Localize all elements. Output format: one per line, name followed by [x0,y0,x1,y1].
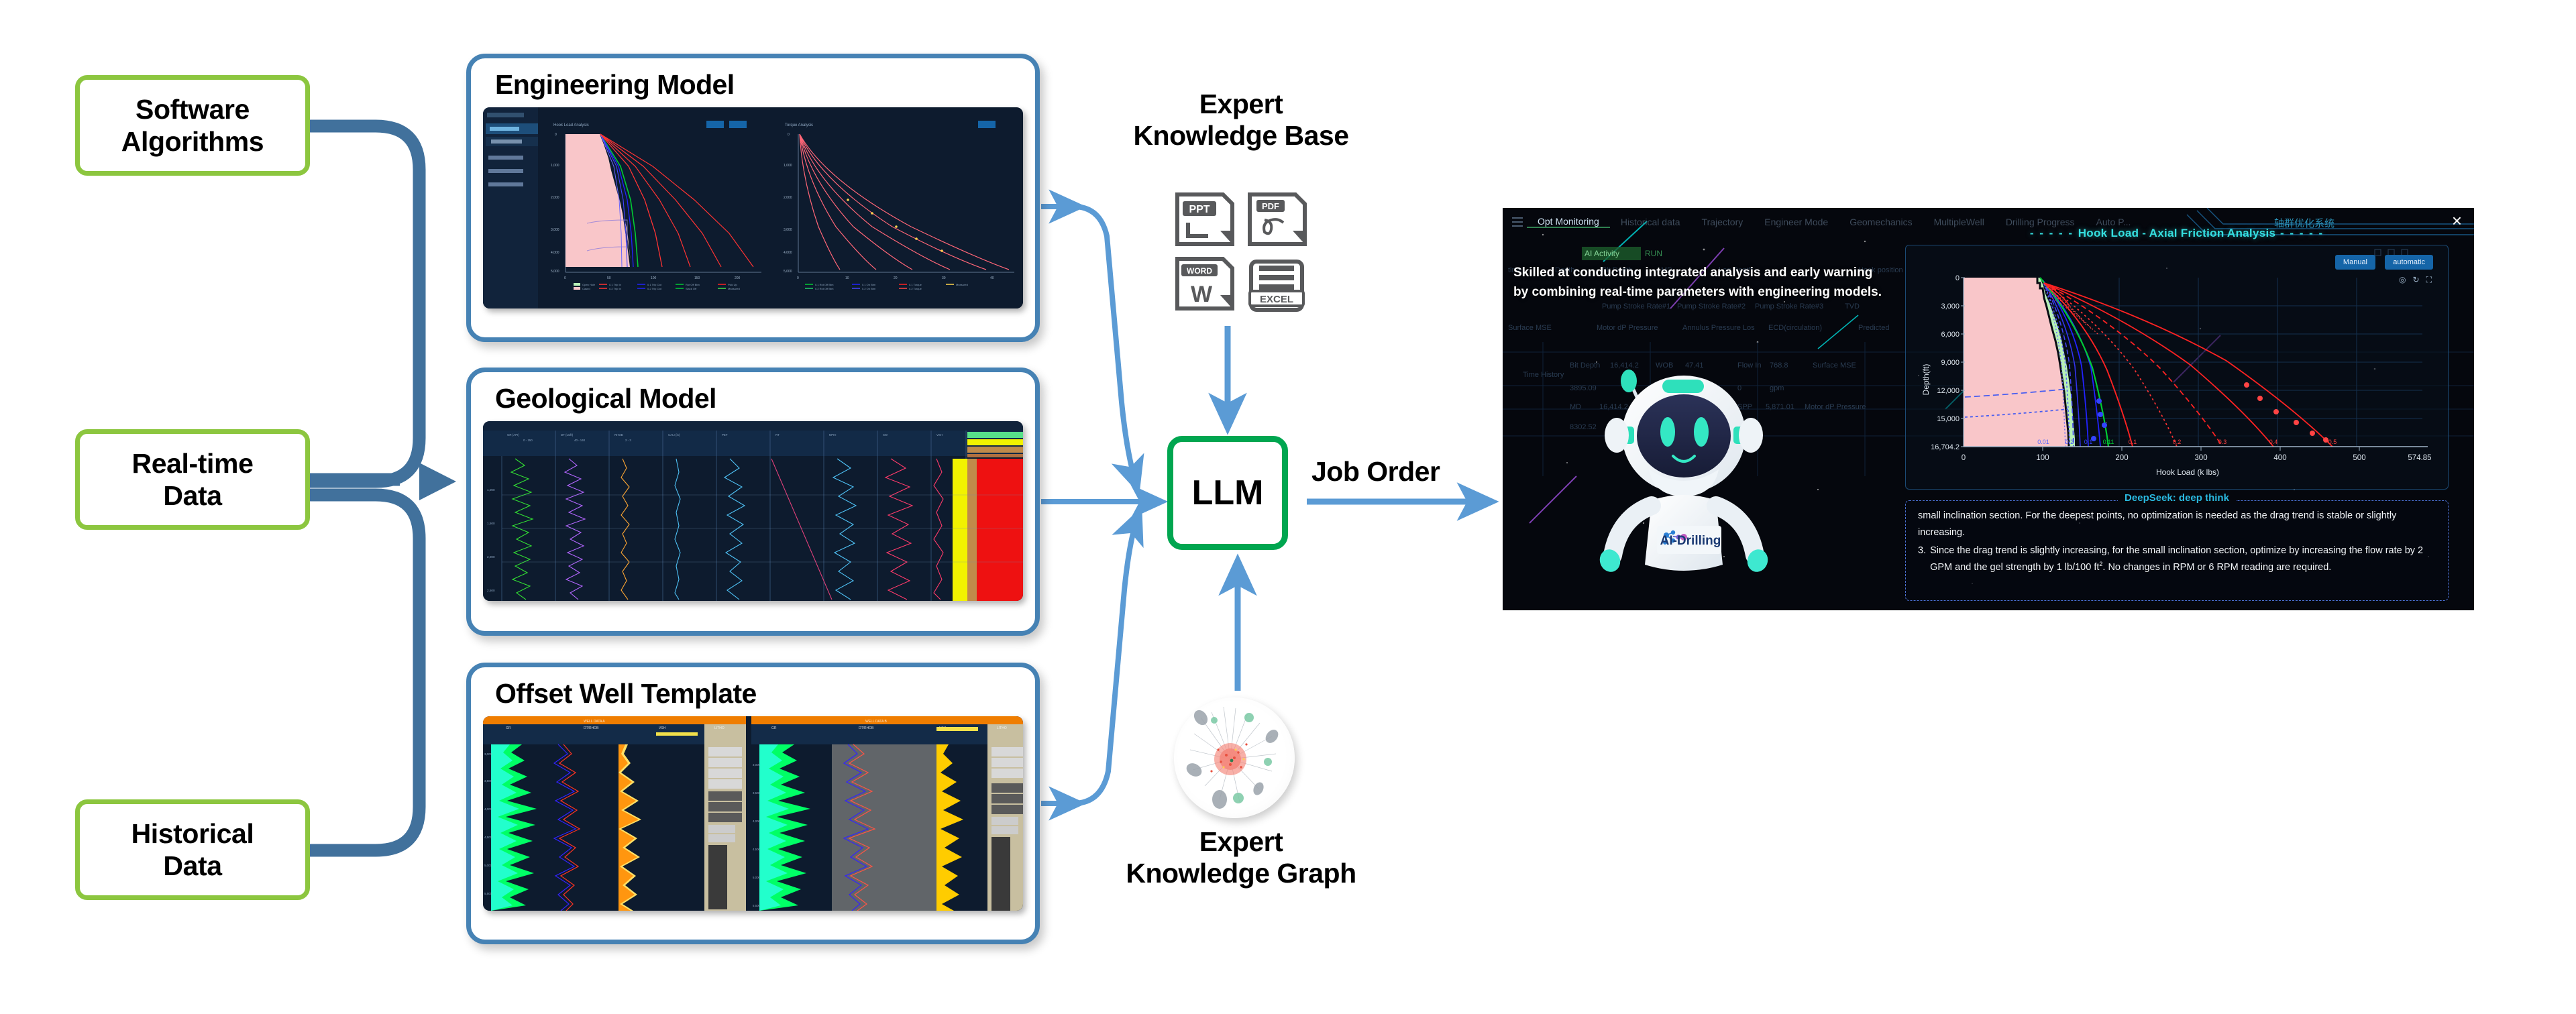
svg-text:0.1: 0.1 [2084,439,2093,445]
svg-text:1,500: 1,500 [487,522,495,525]
manual-mode-button[interactable]: Manual [2335,255,2375,270]
svg-text:0.2 Trip In: 0.2 Trip In [609,287,621,290]
svg-text:GR: GR [771,726,777,730]
svg-text:300: 300 [2194,454,2207,462]
input-box-software-algorithms[interactable]: Software Algorithms [75,75,310,176]
svg-text:574.85: 574.85 [2408,454,2431,462]
svg-text:10: 10 [845,276,849,280]
input-gather-bracket [310,126,456,850]
model-title-offset-well: Offset Well Template [495,678,1023,710]
chart-title-dashes-left: - - - - - [2030,227,2078,239]
llm-label: LLM [1192,473,1264,513]
nav-tab-opt-monitoring[interactable]: Opt Monitoring [1527,216,1610,228]
svg-text:0.2 Rot Off Btm: 0.2 Rot Off Btm [815,287,834,290]
chart-title-dashes-right: - - - - - [2275,227,2324,239]
svg-text:400: 400 [2273,454,2286,462]
svg-text:0: 0 [1962,454,1966,462]
svg-text:0.01: 0.01 [2037,439,2049,445]
svg-text:4,000: 4,000 [753,820,761,823]
svg-text:3,000: 3,000 [753,763,761,767]
model-title-geological: Geological Model [495,383,1023,414]
svg-text:30: 30 [942,276,946,280]
svg-text:RUN: RUN [1645,249,1662,258]
svg-text:0.2 Torque: 0.2 Torque [909,287,922,290]
svg-text:MD: MD [1570,403,1581,411]
svg-text:2 - 3: 2 - 3 [625,439,631,442]
deepseek-paragraph: small inclination section. For the deepe… [1918,508,2436,541]
svg-text:Surface MSE: Surface MSE [1813,361,1856,370]
nav-tab-historical-data[interactable]: Historical data [1610,217,1691,227]
svg-text:0.1 Trip Out: 0.1 Trip Out [647,283,662,286]
svg-text:Pump Stroke Rate#2: Pump Stroke Rate#2 [1677,302,1746,311]
svg-text:40 - 140: 40 - 140 [574,439,586,442]
expert-knowledge-graph-icon [1174,697,1295,818]
svg-text:2,000: 2,000 [784,196,792,200]
svg-text:2,000: 2,000 [487,555,495,559]
model-card-geological[interactable]: Geological Model GR (API)DT (us/ft)RHOB … [466,368,1040,636]
svg-text:100: 100 [651,276,657,280]
svg-text:50: 50 [607,276,611,280]
dashboard-banner-text: Skilled at conducting integrated analysi… [1513,263,1889,302]
ai-drilling-robot-avatar: AI-Drilling [1590,362,1784,597]
svg-text:3,000: 3,000 [484,752,492,756]
svg-text:3,000: 3,000 [551,228,559,232]
svg-text:Pick Up: Pick Up [728,283,738,286]
svg-text:EXCEL: EXCEL [1260,294,1293,305]
svg-text:0.3: 0.3 [2218,439,2227,445]
expert-knowledge-graph-label: Expert Knowledge Graph [1073,826,1409,889]
svg-text:4,000: 4,000 [551,251,559,255]
svg-text:150: 150 [694,276,700,280]
svg-text:3,000: 3,000 [1941,302,1960,311]
svg-text:SW: SW [883,433,888,437]
svg-text:Hook Load Analysis: Hook Load Analysis [553,123,589,127]
svg-text:0.2 Trip Out: 0.2 Trip Out [647,287,662,290]
svg-text:4,000: 4,000 [484,807,492,811]
svg-text:5,500: 5,500 [753,904,761,907]
svg-text:0.1 Rot Off Btm: 0.1 Rot Off Btm [815,283,834,286]
svg-text:DT/RHOB: DT/RHOB [584,726,599,730]
excel-icon: EXCEL [1250,262,1303,310]
svg-text:WELL DATA A: WELL DATA A [584,720,605,724]
svg-text:200: 200 [2115,454,2128,462]
svg-text:Annulus Pressure Los: Annulus Pressure Los [1682,324,1755,332]
hook-load-axial-friction-chart: 0 3,000 6,000 9,000 12,000 15,000 16,704… [1906,245,2449,490]
svg-text:NPHI: NPHI [829,433,837,437]
input-box-historical-label: Historical Data [131,818,254,883]
svg-text:12,000: 12,000 [1937,387,1960,395]
svg-text:AI Activity: AI Activity [1585,249,1619,258]
svg-text:WORD: WORD [1187,266,1212,276]
svg-text:PDF: PDF [1262,201,1279,211]
svg-text:Time History: Time History [1523,371,1564,379]
document-format-icons: PPT PDF WORD W [1171,189,1311,317]
svg-text:RHOB: RHOB [614,433,623,437]
svg-text:LITHO: LITHO [997,726,1007,730]
svg-text:5,000: 5,000 [551,270,559,274]
deepseek-output-panel: small inclination section. For the deepe… [1905,500,2449,601]
svg-text:PEF: PEF [722,433,728,437]
fullscreen-icon[interactable]: ⛶ [2426,275,2432,285]
engineering-model-screenshot: Hook Load Analysis [483,107,1023,308]
svg-text:3,500: 3,500 [753,791,761,795]
svg-text:TVD: TVD [1845,302,1860,311]
svg-text:0: 0 [788,133,790,137]
svg-text:5,000: 5,000 [753,876,761,879]
nav-tab-auto-p[interactable]: Auto P... [2086,217,2142,227]
svg-text:Motor dP Pressure: Motor dP Pressure [1597,324,1658,332]
svg-text:0: 0 [797,276,799,280]
svg-text:2,000: 2,000 [551,196,559,200]
svg-text:WELL DATA B: WELL DATA B [865,720,888,724]
nav-tab-geomechanics[interactable]: Geomechanics [1839,217,1923,227]
chart-title-text: Hook Load - Axial Friction Analysis [2078,227,2276,239]
input-box-software-label: Software Algorithms [121,93,264,158]
svg-text:20: 20 [894,276,898,280]
offset-well-template-screenshot: WELL DATA AWELL DATA B GRDT/RHOBVSHLITHO… [483,716,1023,911]
svg-text:5,000: 5,000 [784,270,792,274]
svg-text:3,000: 3,000 [784,228,792,232]
svg-text:ECD(circulation): ECD(circulation) [1768,324,1822,332]
model-card-engineering[interactable]: Engineering Model Hook Load Analysis [466,54,1040,342]
deepseek-title-text: DeepSeek: deep think [2118,492,2236,504]
svg-text:LITHO: LITHO [714,726,724,730]
model-card-offset-well[interactable]: Offset Well Template WELL DATA AWELL DAT… [466,663,1040,944]
svg-text:2,500: 2,500 [487,589,495,592]
svg-text:0.2: 0.2 [2173,439,2182,445]
svg-text:Predicted: Predicted [1858,324,1889,332]
svg-text:5,500: 5,500 [484,892,492,895]
svg-text:0: 0 [564,276,566,280]
svg-text:4,000: 4,000 [784,251,792,255]
svg-text:6,000: 6,000 [1941,331,1960,339]
svg-text:W: W [1191,282,1213,307]
svg-text:1,000: 1,000 [551,164,559,168]
svg-text:RT: RT [775,433,780,437]
refresh-icon[interactable]: ↻ [2413,275,2420,285]
svg-text:Slack Off: Slack Off [686,287,697,290]
job-order-label: Job Order [1311,456,1513,488]
diagram-canvas: Software Algorithms Real-time Data Histo… [0,0,2576,1014]
svg-text:Pump Stroke Rate#1: Pump Stroke Rate#1 [1602,302,1670,311]
svg-text:Torque Analysis: Torque Analysis [785,123,813,127]
svg-text:0.1 Trip In: 0.1 Trip In [609,283,621,286]
svg-text:100: 100 [2036,454,2049,462]
robot-logo-text: AI-Drilling [1660,534,1721,548]
hook-load-chart-panel[interactable]: Manual automatic ◎ ↻ ⛶ [1905,245,2449,490]
deepseek-item-number: 3. [1918,543,1926,576]
svg-text:0.11: 0.11 [2103,439,2114,445]
chart-title: - - - - - Hook Load - Axial Friction Ana… [1905,227,2449,240]
svg-text:4,500: 4,500 [484,836,492,839]
input-box-realtime-label: Real-time Data [132,447,254,512]
input-box-real-time-data[interactable]: Real-time Data [75,429,310,530]
svg-text:GR (API): GR (API) [507,433,519,437]
svg-text:Measured: Measured [728,287,740,290]
svg-text:Surface MSE: Surface MSE [1508,324,1552,332]
svg-text:Pump Stroke Rate#3: Pump Stroke Rate#3 [1755,302,1823,311]
svg-text:9,000: 9,000 [1941,359,1960,367]
nav-tab-multiplewell[interactable]: MultipleWell [1923,217,1995,227]
svg-text:16,704.2: 16,704.2 [1931,443,1960,451]
svg-text:0.1 On Btm: 0.1 On Btm [862,283,876,286]
svg-text:0.1: 0.1 [2129,439,2137,445]
svg-text:0: 0 [1955,274,1960,282]
svg-text:5,000: 5,000 [484,864,492,867]
svg-text:0 - 150: 0 - 150 [523,439,533,442]
svg-text:Hook Load (k lbs): Hook Load (k lbs) [2156,467,2219,477]
svg-text:3,500: 3,500 [484,779,492,783]
svg-text:Open Hole: Open Hole [582,283,596,286]
svg-text:Cased: Cased [582,287,590,290]
svg-text:0.5: 0.5 [2328,439,2337,445]
deepseek-item-body: Since the drag trend is slightly increas… [1930,543,2436,576]
close-icon[interactable]: × [2452,212,2462,229]
svg-text:Measured: Measured [956,283,968,286]
svg-text:PPT: PPT [1189,204,1210,215]
svg-text:0: 0 [555,133,557,137]
svg-text:Rot Off Btm: Rot Off Btm [686,283,700,286]
deepseek-item-text-b: . No changes in RPM or 6 RPM reading are… [2102,562,2331,573]
expert-knowledge-base-label: Expert Knowledge Base [1073,89,1409,151]
svg-text:0.4: 0.4 [2269,439,2278,445]
svg-text:15,000: 15,000 [1937,415,1960,423]
svg-text:40: 40 [990,276,994,280]
nav-tab-trajectory[interactable]: Trajectory [1691,217,1754,227]
svg-text:0.1 Torque: 0.1 Torque [909,283,922,286]
svg-text:0.2: 0.2 [2065,439,2074,445]
camera-icon[interactable]: ◎ [2399,275,2406,285]
geological-model-screenshot: GR (API)DT (us/ft)RHOB CALI (in)PEFRT NP… [483,421,1023,601]
chart-tool-icons[interactable]: ◎ ↻ ⛶ [2399,275,2432,285]
svg-text:4,500: 4,500 [753,848,761,851]
menu-icon[interactable] [1512,217,1523,227]
automatic-mode-button[interactable]: automatic [2385,255,2433,270]
svg-text:VSH: VSH [659,726,666,730]
svg-text:VSH: VSH [936,433,943,437]
svg-text:DT/RHOB: DT/RHOB [859,726,874,730]
model-title-engineering: Engineering Model [495,69,1023,101]
svg-text:200: 200 [735,276,741,280]
svg-text:1,000: 1,000 [487,488,495,492]
svg-text:GR: GR [506,726,511,730]
svg-text:Depth(ft): Depth(ft) [1921,364,1931,396]
nav-tab-drilling-progress[interactable]: Drilling Progress [1995,217,2086,227]
svg-text:500: 500 [2353,454,2365,462]
svg-text:DT (us/ft): DT (us/ft) [561,433,574,437]
deepseek-panel-title: DeepSeek: deep think [1905,492,2449,504]
svg-text:0.2 On Btm: 0.2 On Btm [862,287,876,290]
svg-text:1,000: 1,000 [784,164,792,168]
svg-text:CALI (in): CALI (in) [668,433,680,437]
drilling-dashboard-window[interactable]: timeDepthBit Depth MDLog DepthHook posit… [1503,208,2474,610]
llm-node[interactable]: LLM [1167,436,1288,550]
nav-tab-engineer-mode[interactable]: Engineer Mode [1754,217,1839,227]
svg-text:Motor dP Pressure: Motor dP Pressure [1805,403,1866,411]
input-box-historical-data[interactable]: Historical Data [75,799,310,900]
